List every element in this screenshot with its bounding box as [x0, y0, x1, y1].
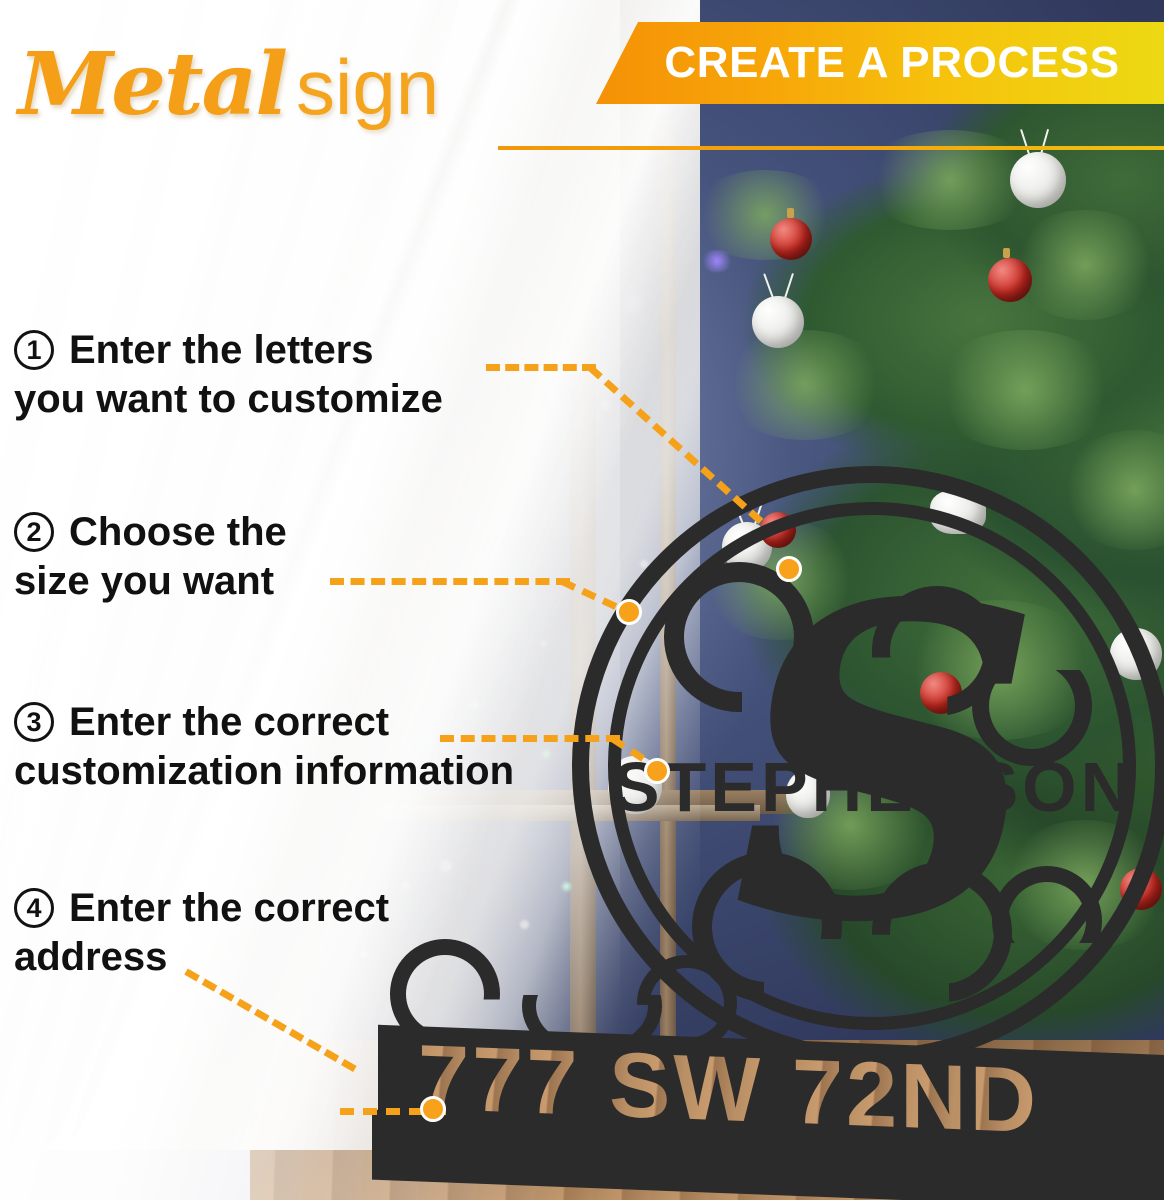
ornament-cap	[787, 208, 794, 218]
connector-line-2a	[330, 578, 570, 585]
pine-branch	[930, 330, 1120, 450]
header-banner: CREATE A PROCESS	[596, 22, 1164, 104]
step-text-line2-4: address	[14, 937, 389, 978]
brand-word-metal: Metal	[18, 34, 286, 135]
sign-name-band: STEPHENSON	[600, 748, 1148, 826]
ornament-red-ball	[770, 218, 812, 260]
address-plate: 777 SW 72ND	[372, 935, 1164, 1200]
pine-branch	[720, 330, 890, 440]
family-name-text: STEPHENSON	[613, 748, 1135, 826]
connector-endpoint-2[interactable]	[616, 599, 642, 625]
brand-word-sign: sign	[296, 43, 439, 131]
step-number-badge-1: 1	[14, 330, 54, 370]
step-number-badge-2: 2	[14, 512, 54, 552]
step-item-2: 2 Choose the size you want	[14, 512, 287, 602]
pine-branch	[690, 170, 840, 260]
connector-endpoint-3[interactable]	[644, 758, 670, 784]
step-item-1: 1 Enter the letters you want to customiz…	[14, 330, 443, 420]
step-text-line1-1: Enter the letters	[69, 330, 374, 371]
connector-line-1a	[486, 364, 596, 371]
header-underline-rule	[498, 146, 1164, 150]
brand-logo: Metalsign	[18, 34, 439, 135]
ornament-white-ball	[1010, 152, 1066, 208]
step-number-badge-3: 3	[14, 702, 54, 742]
step-text-line1-3: Enter the correct	[69, 702, 389, 743]
ornament-cap	[1003, 248, 1010, 258]
step-text-line2-2: size you want	[14, 561, 287, 602]
step-text-line2-1: you want to customize	[14, 379, 443, 420]
banner-title: CREATE A PROCESS	[640, 41, 1119, 85]
product-infographic: S STEPHENSON 777 SW 72ND CREATE A PROCES…	[0, 0, 1164, 1200]
step-item-4: 4 Enter the correct address	[14, 888, 389, 978]
step-text-line2-3: customization information	[14, 751, 514, 792]
ornament-red-ball	[988, 258, 1032, 302]
step-text-line1-2: Choose the	[69, 512, 287, 553]
connector-endpoint-1[interactable]	[776, 556, 802, 582]
step-number-badge-4: 4	[14, 888, 54, 928]
step-item-3: 3 Enter the correct customization inform…	[14, 702, 514, 792]
pine-branch	[1010, 210, 1160, 320]
step-text-line1-4: Enter the correct	[69, 888, 389, 929]
ornament-white-ball	[752, 296, 804, 348]
connector-endpoint-4[interactable]	[420, 1096, 446, 1122]
